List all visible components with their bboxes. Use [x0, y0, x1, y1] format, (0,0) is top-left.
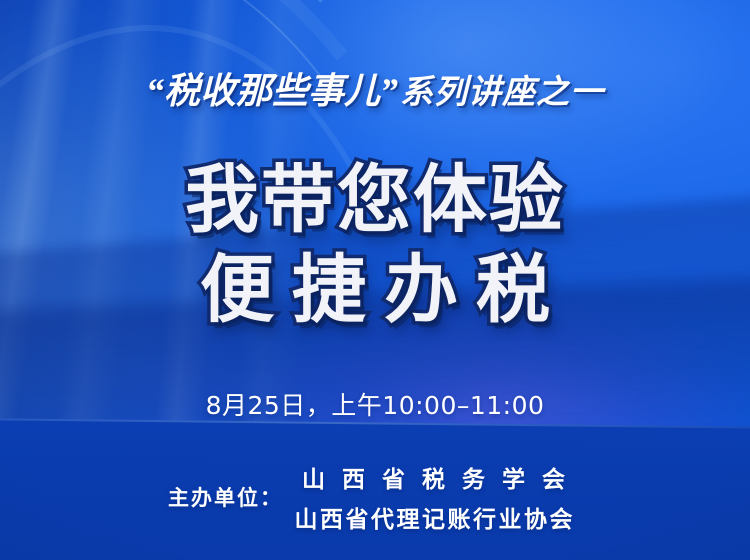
organizer-name-list: 山西省税务学会 山西省代理记账行业协会	[285, 460, 582, 534]
organizer-name-1: 山西省税务学会	[285, 460, 582, 494]
event-datetime: 8月25日，上午10:00–11:00	[0, 386, 750, 422]
series-subtitle: “税收那些事儿”系列讲座之一	[0, 62, 750, 114]
series-subtitle-tail: 系列讲座之一	[400, 72, 604, 111]
main-headline-line-2: 便捷办税	[0, 248, 750, 332]
main-headline-line-1: 我带您体验	[0, 158, 750, 242]
organizer-block: 主办单位： 山西省税务学会 山西省代理记账行业协会	[0, 460, 750, 534]
poster-content: “税收那些事儿”系列讲座之一 我带您体验 便捷办税 8月25日，上午10:00–…	[0, 0, 750, 560]
organizer-name-2: 山西省代理记账行业协会	[285, 500, 582, 534]
poster-canvas: “税收那些事儿”系列讲座之一 我带您体验 便捷办税 8月25日，上午10:00–…	[0, 0, 750, 560]
main-headline: 我带您体验 便捷办税	[0, 158, 750, 332]
series-subtitle-quoted: “税收那些事儿”	[146, 71, 398, 111]
organizer-label: 主办单位：	[168, 482, 283, 512]
